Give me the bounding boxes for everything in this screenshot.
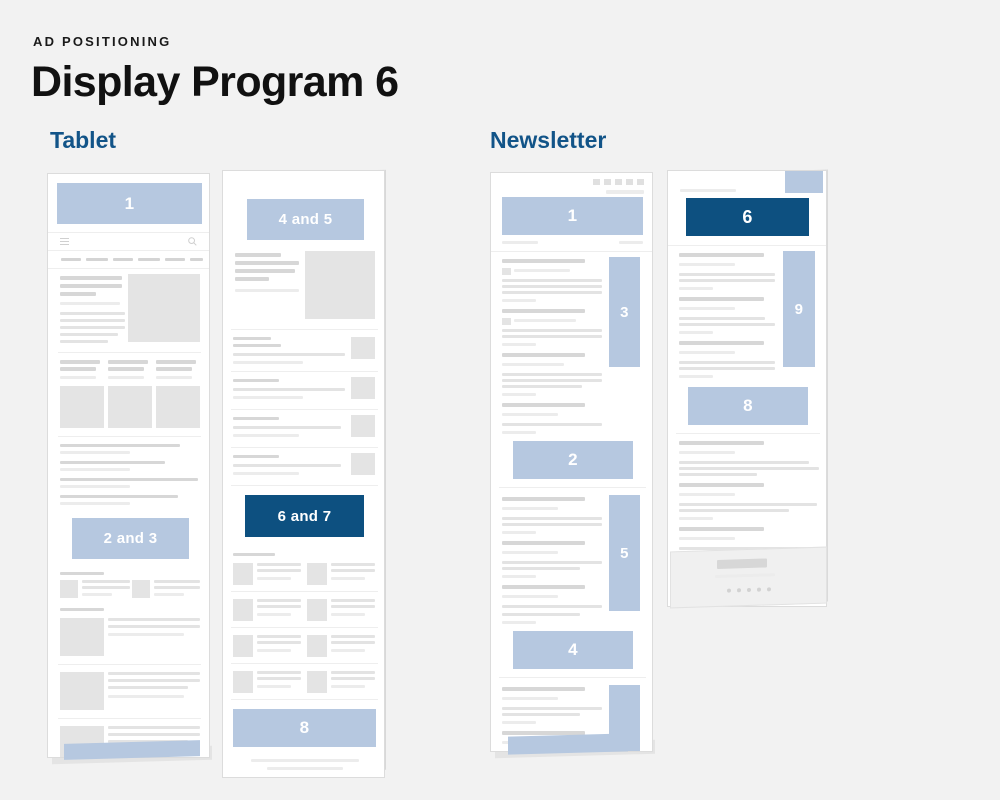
list-meta <box>60 451 130 454</box>
article-meta <box>502 551 558 554</box>
body-line <box>502 329 602 332</box>
meta-bar <box>233 361 303 364</box>
teaser-meta <box>108 376 144 379</box>
thumbnail <box>307 635 327 657</box>
card-line <box>108 672 200 675</box>
social-dot-icon[interactable] <box>727 589 731 593</box>
thumbnail <box>307 671 327 693</box>
thumbnail <box>351 337 375 359</box>
article-meta <box>679 351 735 354</box>
list-headline <box>233 379 279 382</box>
section-divider <box>231 329 378 330</box>
headline-bar <box>60 276 122 280</box>
teaser-headline <box>60 367 96 371</box>
body-line <box>679 375 713 378</box>
social-dot-icon[interactable] <box>747 588 751 592</box>
ad-slot-2[interactable]: 2 <box>513 441 633 479</box>
card-line <box>108 686 188 689</box>
teaser-meta <box>60 376 96 379</box>
card-line <box>257 563 301 566</box>
list-headline <box>233 455 279 458</box>
section-label-newsletter: Newsletter <box>490 127 606 154</box>
section-divider <box>231 699 378 700</box>
body-line <box>502 291 602 294</box>
image-placeholder <box>60 386 104 428</box>
masthead-line <box>502 241 538 244</box>
image-placeholder <box>156 386 200 428</box>
tablet-2-canvas: 4 and 5 6 and 7 <box>223 171 384 777</box>
inline-tag <box>502 318 511 325</box>
list-headline <box>60 495 178 498</box>
body-line <box>502 561 602 564</box>
article-meta <box>502 413 558 416</box>
body-line <box>679 273 775 276</box>
card-meta <box>257 577 291 580</box>
card-line <box>82 580 130 583</box>
footer-line <box>715 573 775 578</box>
section-divider <box>231 409 378 410</box>
article-headline <box>679 441 764 445</box>
section-divider <box>499 487 646 488</box>
card-line <box>257 569 301 572</box>
body-line <box>502 523 602 526</box>
hamburger-icon[interactable] <box>60 238 69 245</box>
ad-slot-4[interactable]: 4 <box>513 631 633 669</box>
social-dot-icon[interactable] <box>737 588 741 592</box>
card-line <box>331 671 375 674</box>
card-line <box>257 671 301 674</box>
headline-bar <box>235 253 281 257</box>
section-divider <box>231 663 378 664</box>
body-line <box>233 353 345 356</box>
body-line <box>502 713 580 716</box>
card-line <box>108 618 200 621</box>
card-meta <box>257 685 291 688</box>
article-meta <box>679 307 735 310</box>
body-line <box>502 531 536 534</box>
body-line <box>502 335 602 338</box>
toolbar-square-icon[interactable] <box>604 179 611 185</box>
card-line <box>331 635 375 638</box>
article-meta <box>514 269 570 272</box>
eyebrow-label: AD POSITIONING <box>33 34 171 49</box>
teaser-headline <box>60 360 100 364</box>
nav-link[interactable] <box>113 258 133 261</box>
thumbnail <box>60 580 78 598</box>
article-headline <box>502 353 585 357</box>
body-line <box>233 388 345 391</box>
body-line <box>60 340 108 343</box>
body-line <box>502 605 602 608</box>
section-divider <box>58 436 201 437</box>
ad-slot-3[interactable]: 3 <box>609 257 640 367</box>
section-divider <box>668 245 827 246</box>
body-line <box>502 613 580 616</box>
body-line <box>502 423 602 426</box>
headline-bar <box>60 284 122 288</box>
body-line <box>502 621 536 624</box>
article-headline <box>679 341 764 345</box>
thumbnail <box>307 563 327 585</box>
footer-line <box>267 767 343 770</box>
headline-bar <box>235 269 295 273</box>
section-divider <box>231 591 378 592</box>
meta-bar <box>233 396 303 399</box>
ad-slot-bottom-partial[interactable] <box>508 733 628 754</box>
body-line <box>502 285 602 288</box>
masthead-line <box>619 241 643 244</box>
body-line <box>502 373 602 376</box>
article-meta <box>679 493 735 496</box>
body-line <box>60 326 125 329</box>
nav-divider-top <box>48 232 210 233</box>
card-line <box>108 726 200 729</box>
mockup-newsletter-2: 6 9 8 <box>667 170 827 607</box>
card-line <box>108 679 200 682</box>
article-meta <box>679 451 735 454</box>
article-headline <box>502 497 585 501</box>
nav-divider-mid <box>48 250 210 251</box>
card-line <box>257 641 301 644</box>
list-headline <box>233 417 279 420</box>
list-headline <box>233 337 271 340</box>
meta-bar <box>233 472 299 475</box>
image-placeholder <box>305 251 375 319</box>
card-meta <box>331 649 365 652</box>
section-label-tablet: Tablet <box>50 127 116 154</box>
section-divider <box>58 718 201 719</box>
section-divider <box>491 251 653 252</box>
thumbnail <box>233 635 253 657</box>
list-headline <box>233 344 281 347</box>
article-headline <box>502 259 585 263</box>
list-meta <box>60 468 130 471</box>
card-line <box>331 605 375 608</box>
article-headline <box>502 541 585 545</box>
card-line <box>257 605 301 608</box>
section-divider <box>231 447 378 448</box>
toolbar-square-icon[interactable] <box>626 179 633 185</box>
body-line <box>679 323 775 326</box>
image-placeholder <box>60 672 104 710</box>
article-headline <box>679 253 764 257</box>
section-divider <box>58 664 201 665</box>
card-line <box>154 586 200 589</box>
tablet-1-canvas: 1 <box>48 174 209 757</box>
newsletter-2-canvas: 6 9 8 <box>668 171 826 606</box>
thumbnail <box>233 563 253 585</box>
body-line <box>679 361 775 364</box>
card-kicker <box>233 553 275 556</box>
footer-line <box>251 759 359 762</box>
article-headline <box>502 687 585 691</box>
card-kicker <box>60 608 104 611</box>
ad-slot-8[interactable]: 8 <box>688 387 808 425</box>
list-meta <box>60 502 130 505</box>
image-placeholder <box>128 274 200 342</box>
card-line <box>257 635 301 638</box>
headline-bar <box>235 277 269 281</box>
nav-link[interactable] <box>165 258 185 261</box>
body-line <box>502 517 602 520</box>
body-line <box>233 464 341 467</box>
search-icon[interactable] <box>188 237 197 246</box>
section-divider <box>58 352 201 353</box>
article-headline <box>679 297 764 301</box>
ad-slot-2-and-3[interactable]: 2 and 3 <box>72 518 189 559</box>
card-meta <box>108 633 184 636</box>
article-headline <box>679 483 764 487</box>
social-dot-icon[interactable] <box>757 588 761 592</box>
ad-slot-5[interactable]: 5 <box>609 495 640 611</box>
ad-slot-9[interactable]: 9 <box>783 251 815 367</box>
headline-bar <box>60 292 96 296</box>
body-line <box>502 299 536 302</box>
section-divider <box>231 371 378 372</box>
body-line <box>679 279 775 282</box>
nav-divider-bottom <box>48 268 210 269</box>
body-line <box>679 467 819 470</box>
card-line <box>257 599 301 602</box>
nav-link[interactable] <box>86 258 108 261</box>
body-line <box>60 319 125 322</box>
inline-tag <box>502 268 511 275</box>
ad-slot-corner[interactable] <box>785 171 823 193</box>
newsletter-1-canvas: 1 3 2 5 <box>491 173 652 751</box>
ad-slot-1[interactable]: 1 <box>502 197 643 235</box>
card-line <box>108 625 200 628</box>
footer-button[interactable] <box>717 558 767 569</box>
body-line <box>679 503 817 506</box>
list-headline <box>60 444 180 447</box>
list-meta <box>60 485 130 488</box>
section-divider <box>231 485 378 486</box>
card-kicker <box>60 572 104 575</box>
meta-bar <box>233 434 299 437</box>
card-meta <box>331 613 365 616</box>
teaser-headline <box>108 367 144 371</box>
article-meta <box>502 363 564 366</box>
ad-slot-6[interactable]: 6 <box>686 198 809 236</box>
section-divider <box>499 677 646 678</box>
section-divider <box>231 627 378 628</box>
ad-slot-8[interactable]: 8 <box>233 709 376 747</box>
body-line <box>502 385 582 388</box>
article-meta <box>679 263 735 266</box>
meta-bar <box>235 289 299 292</box>
card-meta <box>331 577 365 580</box>
nav-link[interactable] <box>61 258 81 261</box>
body-line <box>502 279 602 282</box>
body-line <box>60 312 125 315</box>
card-line <box>331 677 375 680</box>
card-line <box>331 599 375 602</box>
article-meta <box>514 319 576 322</box>
article-headline <box>502 403 585 407</box>
card-line <box>331 641 375 644</box>
thumbnail <box>233 599 253 621</box>
article-meta <box>502 697 558 700</box>
mockup-tablet-2: 4 and 5 6 and 7 <box>222 170 385 778</box>
thumbnail <box>351 377 375 399</box>
teaser-headline <box>156 360 196 364</box>
body-line <box>502 707 602 710</box>
thumbnail <box>351 453 375 475</box>
thumbnail <box>307 599 327 621</box>
teaser-meta <box>156 376 192 379</box>
card-line <box>82 586 130 589</box>
ad-slot-1[interactable]: 1 <box>57 183 202 224</box>
card-meta <box>82 593 112 596</box>
body-line <box>502 393 536 396</box>
list-headline <box>60 478 198 481</box>
body-line <box>502 431 536 434</box>
article-headline <box>502 309 585 313</box>
section-divider <box>676 433 820 434</box>
body-line <box>502 575 536 578</box>
ad-slot-4-and-5[interactable]: 4 and 5 <box>247 199 364 240</box>
body-line <box>679 517 713 520</box>
body-line <box>233 426 341 429</box>
nav-link[interactable] <box>190 258 203 261</box>
thumbnail <box>132 580 150 598</box>
article-meta <box>679 537 735 540</box>
thumbnail <box>351 415 375 437</box>
body-line <box>679 509 789 512</box>
toolbar-square-icon[interactable] <box>637 179 644 185</box>
meta-bar <box>60 302 120 305</box>
list-headline <box>60 461 165 464</box>
mockup-tablet-1: 1 <box>47 173 210 758</box>
body-line <box>502 567 580 570</box>
body-line <box>502 379 602 382</box>
article-headline <box>502 585 585 589</box>
image-placeholder <box>108 386 152 428</box>
social-dot-icon[interactable] <box>767 587 771 591</box>
page-title: Display Program 6 <box>31 58 398 107</box>
teaser-headline <box>156 367 192 371</box>
card-meta <box>257 613 291 616</box>
card-meta <box>154 593 184 596</box>
body-line <box>60 333 118 336</box>
thumbnail <box>233 671 253 693</box>
toolbar-square-icon[interactable] <box>593 179 600 185</box>
toolbar-label <box>606 190 644 194</box>
mockup-newsletter-1: 1 3 2 5 <box>490 172 653 752</box>
body-line <box>679 331 713 334</box>
body-line <box>679 317 765 320</box>
card-line <box>154 580 200 583</box>
card-meta <box>108 695 184 698</box>
article-meta <box>502 595 558 598</box>
body-line <box>502 343 536 346</box>
body-line <box>679 367 775 370</box>
body-line <box>679 287 713 290</box>
body-line <box>679 473 757 476</box>
body-line <box>502 721 536 724</box>
article-meta <box>502 507 558 510</box>
card-line <box>257 677 301 680</box>
toolbar-square-icon[interactable] <box>615 179 622 185</box>
newsletter-2-footer <box>670 547 827 609</box>
masthead-line <box>680 189 736 192</box>
image-placeholder <box>60 618 104 656</box>
ad-slot-6-and-7[interactable]: 6 and 7 <box>245 495 364 537</box>
card-line <box>331 569 375 572</box>
body-line <box>679 461 809 464</box>
card-line <box>331 563 375 566</box>
card-meta <box>257 649 291 652</box>
nav-link[interactable] <box>138 258 160 261</box>
headline-bar <box>235 261 299 265</box>
teaser-headline <box>108 360 148 364</box>
article-headline <box>679 527 764 531</box>
card-line <box>108 733 200 736</box>
card-meta <box>331 685 365 688</box>
